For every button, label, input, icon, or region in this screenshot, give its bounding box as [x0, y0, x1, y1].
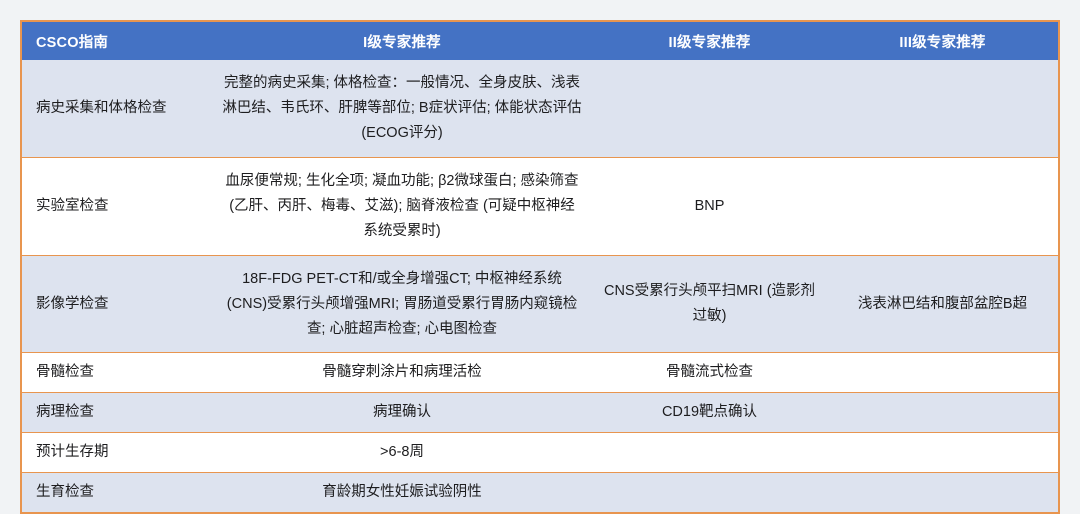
- cell-level1-bone-marrow: 骨髓穿刺涂片和病理活检: [212, 353, 592, 393]
- cell-level2-laboratory: BNP: [592, 157, 827, 255]
- cell-level2-life-expectancy: [592, 433, 827, 473]
- cell-level1-history-physical: 完整的病史采集; 体格检查：一般情况、全身皮肤、浅表淋巴结、韦氏环、肝脾等部位;…: [212, 60, 592, 157]
- cell-level3-laboratory: [827, 157, 1058, 255]
- column-header-guideline: CSCO指南: [22, 22, 212, 60]
- row-label-laboratory: 实验室检查: [22, 157, 212, 255]
- row-label-fertility: 生育检查: [22, 473, 212, 512]
- row-label-history-physical: 病史采集和体格检查: [22, 60, 212, 157]
- csco-guideline-table: CSCO指南 I级专家推荐 II级专家推荐 III级专家推荐 病史采集和体格检查…: [22, 22, 1058, 512]
- column-header-level-3: III级专家推荐: [827, 22, 1058, 60]
- cell-level2-fertility: [592, 473, 827, 512]
- cell-level1-pathology: 病理确认: [212, 393, 592, 433]
- cell-level1-laboratory: 血尿便常规; 生化全项; 凝血功能; β2微球蛋白; 感染筛查 (乙肝、丙肝、梅…: [212, 157, 592, 255]
- table-row: 骨髓检查 骨髓穿刺涂片和病理活检 骨髓流式检查: [22, 353, 1058, 393]
- table-header-row: CSCO指南 I级专家推荐 II级专家推荐 III级专家推荐: [22, 22, 1058, 60]
- table-row: 生育检查 育龄期女性妊娠试验阴性: [22, 473, 1058, 512]
- guideline-table-container: CSCO指南 I级专家推荐 II级专家推荐 III级专家推荐 病史采集和体格检查…: [20, 20, 1060, 514]
- cell-level3-pathology: [827, 393, 1058, 433]
- cell-level3-fertility: [827, 473, 1058, 512]
- cell-level1-fertility: 育龄期女性妊娠试验阴性: [212, 473, 592, 512]
- cell-level3-history-physical: [827, 60, 1058, 157]
- column-header-level-1: I级专家推荐: [212, 22, 592, 60]
- cell-level1-life-expectancy: >6-8周: [212, 433, 592, 473]
- cell-level2-bone-marrow: 骨髓流式检查: [592, 353, 827, 393]
- table-row: 实验室检查 血尿便常规; 生化全项; 凝血功能; β2微球蛋白; 感染筛查 (乙…: [22, 157, 1058, 255]
- row-label-pathology: 病理检查: [22, 393, 212, 433]
- cell-level2-history-physical: [592, 60, 827, 157]
- table-row: 预计生存期 >6-8周: [22, 433, 1058, 473]
- table-row: 病史采集和体格检查 完整的病史采集; 体格检查：一般情况、全身皮肤、浅表淋巴结、…: [22, 60, 1058, 157]
- row-label-bone-marrow: 骨髓检查: [22, 353, 212, 393]
- cell-level3-life-expectancy: [827, 433, 1058, 473]
- column-header-level-2: II级专家推荐: [592, 22, 827, 60]
- table-row: 影像学检查 18F-FDG PET-CT和/或全身增强CT; 中枢神经系统 (C…: [22, 255, 1058, 353]
- cell-level3-imaging: 浅表淋巴结和腹部盆腔B超: [827, 255, 1058, 353]
- row-label-life-expectancy: 预计生存期: [22, 433, 212, 473]
- cell-level2-pathology: CD19靶点确认: [592, 393, 827, 433]
- cell-level3-bone-marrow: [827, 353, 1058, 393]
- cell-level2-imaging: CNS受累行头颅平扫MRI (造影剂过敏): [592, 255, 827, 353]
- table-body: 病史采集和体格检查 完整的病史采集; 体格检查：一般情况、全身皮肤、浅表淋巴结、…: [22, 60, 1058, 512]
- table-header: CSCO指南 I级专家推荐 II级专家推荐 III级专家推荐: [22, 22, 1058, 60]
- table-row: 病理检查 病理确认 CD19靶点确认: [22, 393, 1058, 433]
- cell-level1-imaging: 18F-FDG PET-CT和/或全身增强CT; 中枢神经系统 (CNS)受累行…: [212, 255, 592, 353]
- row-label-imaging: 影像学检查: [22, 255, 212, 353]
